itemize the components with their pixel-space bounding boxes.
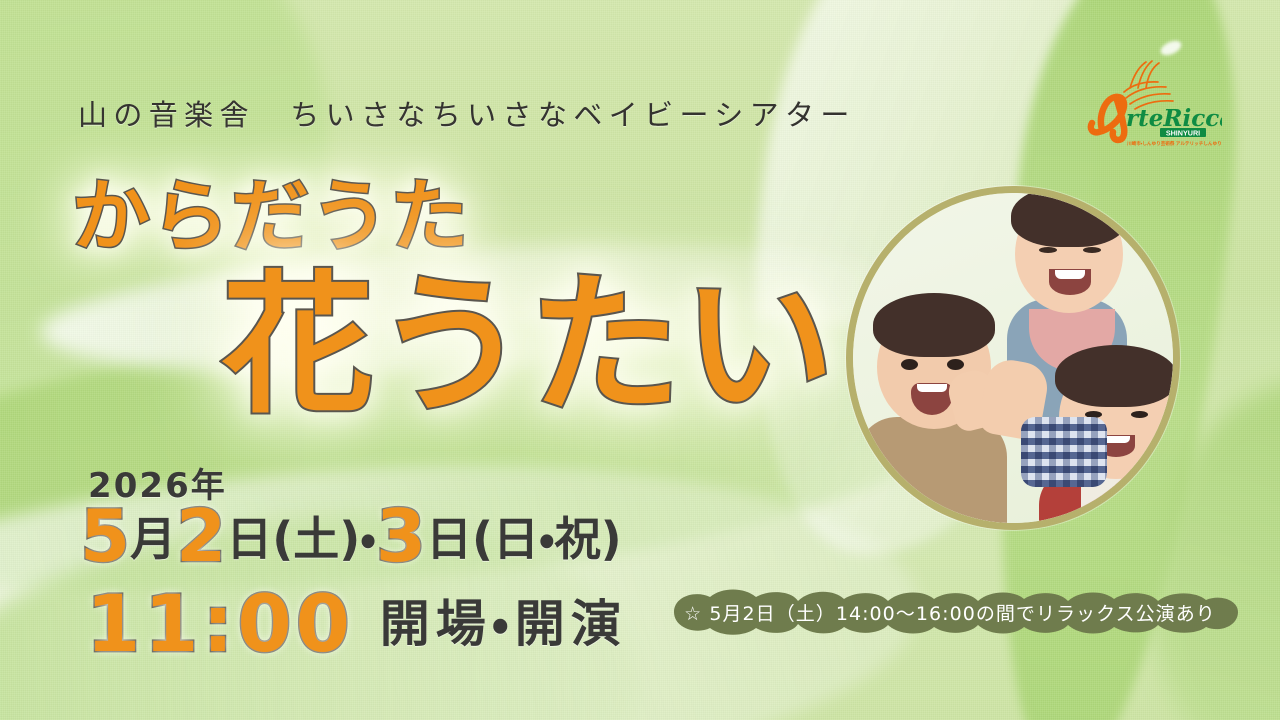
- event-date-line: 5月2日(土)・3日(日・祝): [80, 500, 622, 572]
- event-subtitle: 山の音楽舎 ちいさなちいさなベイビーシアター: [78, 92, 856, 134]
- logo-mark-svg: rteRicca SHINYURI 川崎市・しんゆり芸術祭 アルテリッチしんゆり: [1072, 58, 1222, 150]
- logo-caption: 川崎市・しんゆり芸術祭 アルテリッチしんゆり: [1126, 140, 1222, 147]
- date-separator: ・: [360, 512, 376, 566]
- event-time-line: 11:00開場・開演: [86, 586, 627, 664]
- date-day2-number: 3: [376, 494, 426, 578]
- banner-text: ☆ 5月2日（土）14:00〜16:00の間でリラックス公演あり: [648, 588, 1252, 636]
- event-time-value: 11:00: [86, 580, 354, 670]
- date-day2-unit: 日: [426, 512, 472, 566]
- logo-badge-label: SHINYURI: [1166, 128, 1200, 137]
- date-month-number: 5: [80, 494, 130, 578]
- date-month-unit: 月: [130, 512, 176, 566]
- baby-photo: [853, 193, 1173, 523]
- bg-highlight-speck: [1158, 38, 1183, 58]
- date-day1-unit: 日: [226, 512, 272, 566]
- arte-ricca-logo[interactable]: rteRicca SHINYURI 川崎市・しんゆり芸術祭 アルテリッチしんゆり: [1072, 58, 1222, 150]
- title-main: 花うたい: [222, 270, 836, 422]
- event-time-label: 開場・開演: [380, 595, 627, 653]
- baby-trousers: [1021, 417, 1107, 487]
- baby-photo-circle: [846, 186, 1180, 530]
- date-day2-weekday: (日・祝): [472, 512, 622, 566]
- title-small: からだうた: [72, 178, 470, 256]
- poster-canvas: 山の音楽舎 ちいさなちいさなベイビーシアター rteRicca SHINYURI: [0, 0, 1280, 720]
- date-day1-weekday: (土): [272, 512, 360, 566]
- date-day1-number: 2: [176, 494, 226, 578]
- relax-performance-banner: ☆ 5月2日（土）14:00〜16:00の間でリラックス公演あり: [648, 588, 1252, 636]
